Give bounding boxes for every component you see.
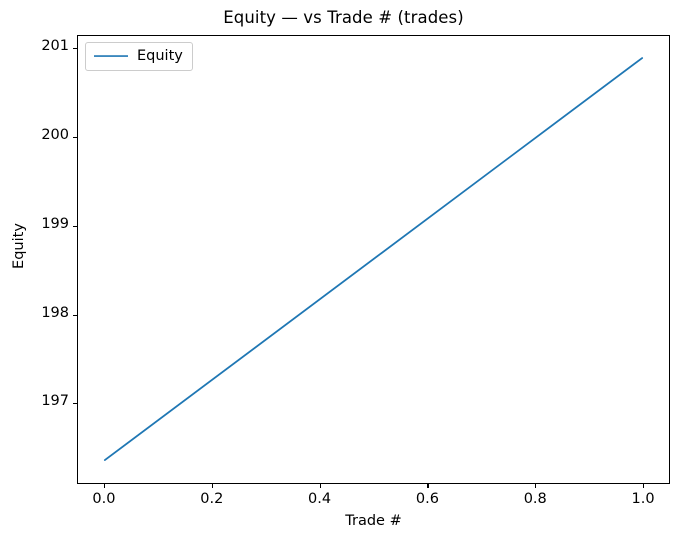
x-tick-mark: [212, 484, 213, 488]
y-tick-label: 201: [41, 38, 69, 54]
y-tick-label: 200: [41, 127, 69, 143]
series-canvas: [78, 36, 669, 483]
chart-title: Equity — vs Trade # (trades): [0, 8, 687, 27]
x-tick-mark: [104, 484, 105, 488]
x-axis-label: Trade #: [77, 513, 670, 529]
series-line: [105, 58, 642, 460]
y-tick-label: 198: [41, 305, 69, 321]
x-tick-mark: [643, 484, 644, 488]
x-tick-mark: [535, 484, 536, 488]
legend-entry-label: Equity: [137, 49, 183, 64]
y-axis-label: Equity: [11, 186, 27, 306]
legend-line-swatch: [94, 55, 128, 57]
x-tick-label: 0.0: [92, 491, 115, 507]
x-tick-label: 0.8: [524, 491, 547, 507]
x-tick-label: 1.0: [632, 491, 655, 507]
x-tick-label: 0.2: [200, 491, 223, 507]
x-tick-mark: [427, 484, 428, 488]
x-tick-mark: [320, 484, 321, 488]
chart-legend: Equity: [85, 42, 193, 71]
y-tick-label: 199: [41, 216, 69, 232]
x-tick-label: 0.4: [308, 491, 331, 507]
chart-figure: Equity — vs Trade # (trades) Equity Trad…: [0, 0, 687, 546]
plot-area: [77, 35, 670, 484]
x-tick-label: 0.6: [416, 491, 439, 507]
y-tick-label: 197: [41, 393, 69, 409]
